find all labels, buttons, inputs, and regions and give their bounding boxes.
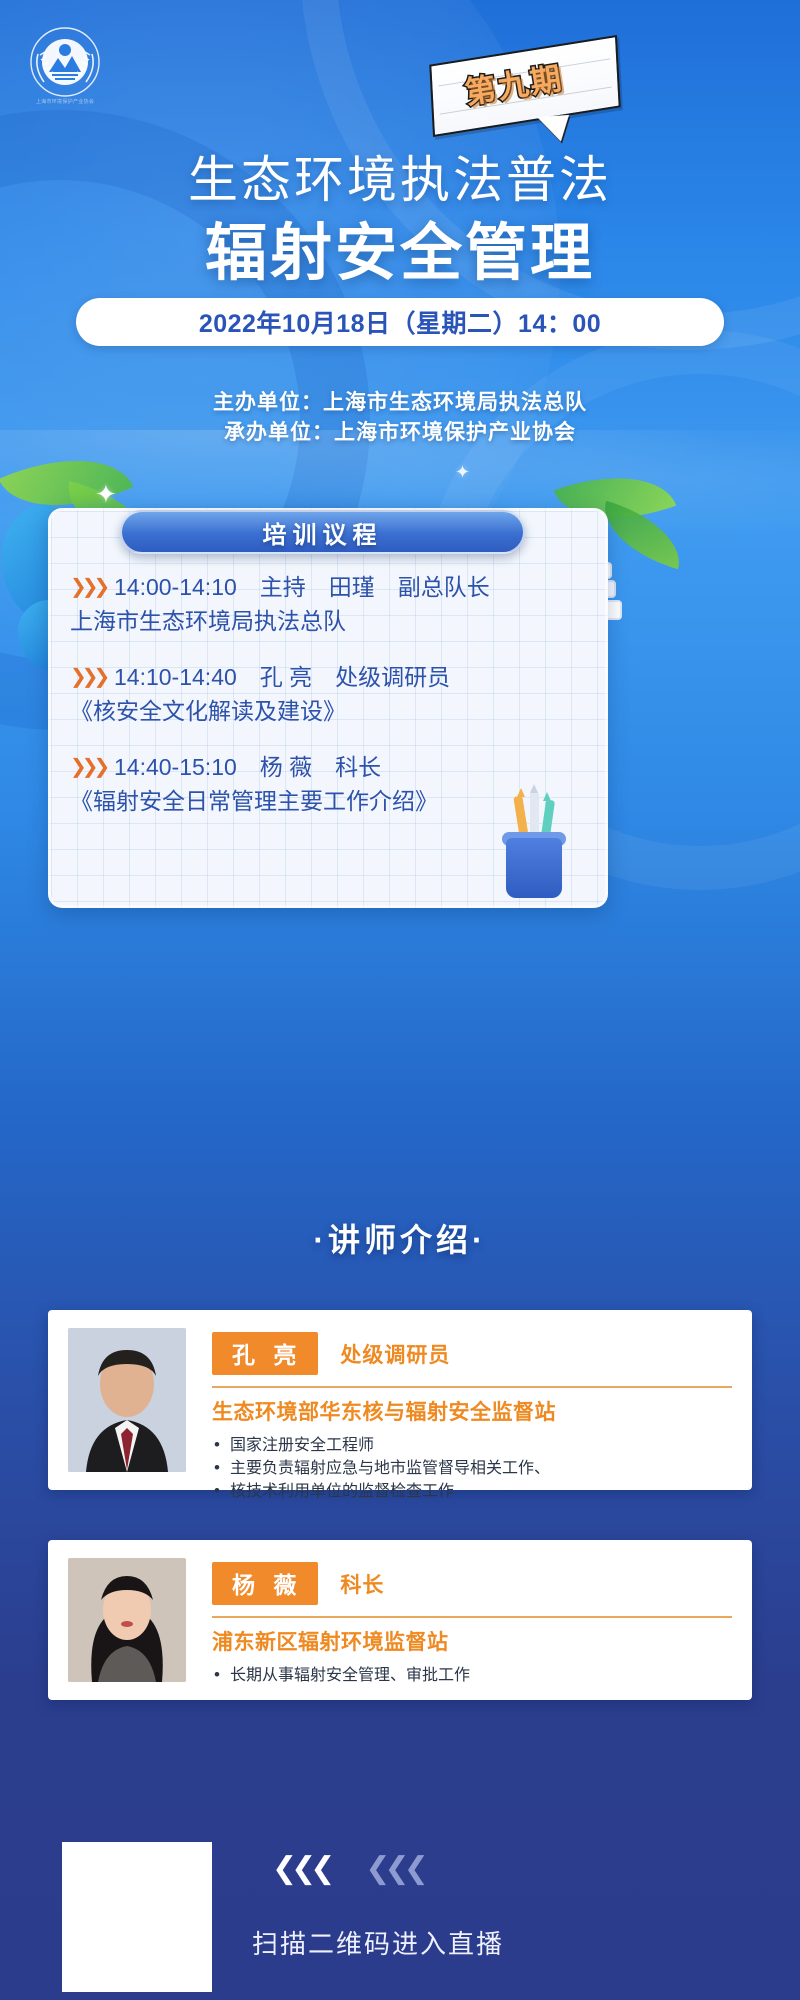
issue-badge-tail bbox=[537, 115, 571, 143]
agenda-item-line1: 14:10-14:40 孔 亮 处级调研员 bbox=[114, 660, 586, 694]
speaker-organization: 生态环境部华东核与辐射安全监督站 bbox=[212, 1396, 732, 1426]
organizers-block: 主办单位：上海市生态环境局执法总队 承办单位：上海市环境保护产业协会 bbox=[0, 388, 800, 448]
event-poster: ✦ ✦ ✦ 上海市环境保护产业协会 第九期 生态环境执法 bbox=[0, 0, 800, 2000]
speaker-name-row: 杨 薇 科长 bbox=[212, 1562, 732, 1605]
pencil-cup-icon bbox=[500, 790, 570, 900]
agenda-heading-label: 培训议程 bbox=[263, 515, 383, 550]
logo-caption: 上海市环境保护产业协会 bbox=[22, 98, 108, 105]
speaker-name-row: 孔 亮 处级调研员 bbox=[212, 1332, 732, 1375]
agenda-heading: 培训议程 bbox=[120, 510, 525, 554]
agenda-item-line1: 14:00-14:10 主持 田瑾 副总队长 bbox=[114, 570, 586, 604]
speaker-role: 科长 bbox=[340, 1569, 384, 1599]
triple-chevron-right-icon: ❯❯❯ bbox=[70, 756, 105, 778]
triple-chevron-left-icon: ❮❮❮ bbox=[272, 1854, 329, 1884]
speaker-role: 处级调研员 bbox=[340, 1339, 450, 1369]
triple-chevron-right-icon: ❯❯❯ bbox=[70, 666, 105, 688]
speaker-bullet: 主要负责辐射应急与地市监管督导相关工作、 bbox=[212, 1457, 732, 1480]
agenda-item-line2: 《核安全文化解读及建设》 bbox=[70, 694, 586, 728]
male-portrait-photo bbox=[68, 1328, 186, 1472]
speaker-name-badge: 杨 薇 bbox=[212, 1562, 318, 1605]
association-logo: 上海市环境保护产业协会 bbox=[22, 24, 108, 116]
divider bbox=[212, 1616, 732, 1618]
speaker-bullet-list: 国家注册安全工程师 主要负责辐射应急与地市监管督导相关工作、 核技术利用单位的监… bbox=[212, 1434, 732, 1503]
co-host-organizer: 承办单位：上海市环境保护产业协会 bbox=[0, 418, 800, 448]
qr-code-matrix bbox=[71, 1851, 203, 1983]
speaker-bullet: 长期从事辐射安全管理、审批工作 bbox=[212, 1664, 732, 1687]
speakers-section-title: ·讲师介绍· bbox=[0, 1215, 800, 1261]
emblem-icon bbox=[22, 24, 108, 104]
qr-code-icon[interactable] bbox=[62, 1842, 212, 1992]
agenda-item: ❯❯❯ 14:00-14:10 主持 田瑾 副总队长 上海市生态环境局执法总队 bbox=[48, 570, 608, 638]
scan-instruction: 扫描二维码进入直播 bbox=[252, 1924, 504, 1961]
speaker-bullet-list: 长期从事辐射安全管理、审批工作 bbox=[212, 1664, 732, 1687]
divider bbox=[212, 1386, 732, 1388]
agenda-item-line1: 14:40-15:10 杨 薇 科长 bbox=[114, 750, 586, 784]
host-organizer: 主办单位：上海市生态环境局执法总队 bbox=[0, 388, 800, 418]
event-datetime-pill: 2022年10月18日（星期二）14：00 bbox=[76, 298, 724, 346]
triple-chevron-left-icon: ❮❮❮ bbox=[365, 1854, 422, 1884]
agenda-item: ❯❯❯ 14:10-14:40 孔 亮 处级调研员 《核安全文化解读及建设》 bbox=[48, 660, 608, 728]
speaker-details: 孔 亮 处级调研员 生态环境部华东核与辐射安全监督站 国家注册安全工程师 主要负… bbox=[186, 1328, 732, 1472]
speaker-card: 孔 亮 处级调研员 生态环境部华东核与辐射安全监督站 国家注册安全工程师 主要负… bbox=[48, 1310, 752, 1490]
speaker-bullet-continuation: 核技术利用单位的监督检查工作 bbox=[212, 1480, 732, 1503]
agenda-item-line2: 上海市生态环境局执法总队 bbox=[70, 604, 586, 638]
speaker-details: 杨 薇 科长 浦东新区辐射环境监督站 长期从事辐射安全管理、审批工作 bbox=[186, 1558, 732, 1682]
female-portrait-photo bbox=[68, 1558, 186, 1682]
sparkle-icon: ✦ bbox=[95, 481, 117, 507]
speaker-organization: 浦东新区辐射环境监督站 bbox=[212, 1626, 732, 1656]
speaker-bullet: 国家注册安全工程师 bbox=[212, 1434, 732, 1457]
footer: ❮❮❮ ❮❮❮ 扫描二维码进入直播 bbox=[0, 1832, 800, 2000]
event-datetime-text: 2022年10月18日（星期二）14：00 bbox=[199, 304, 601, 340]
speaker-name-badge: 孔 亮 bbox=[212, 1332, 318, 1375]
poster-title-line2: 辐射安全管理 bbox=[0, 202, 800, 292]
chevron-group: ❮❮❮ ❮❮❮ bbox=[272, 1854, 423, 1884]
triple-chevron-right-icon: ❯❯❯ bbox=[70, 576, 105, 598]
sparkle-icon: ✦ bbox=[455, 463, 470, 481]
speaker-card: 杨 薇 科长 浦东新区辐射环境监督站 长期从事辐射安全管理、审批工作 bbox=[48, 1540, 752, 1700]
